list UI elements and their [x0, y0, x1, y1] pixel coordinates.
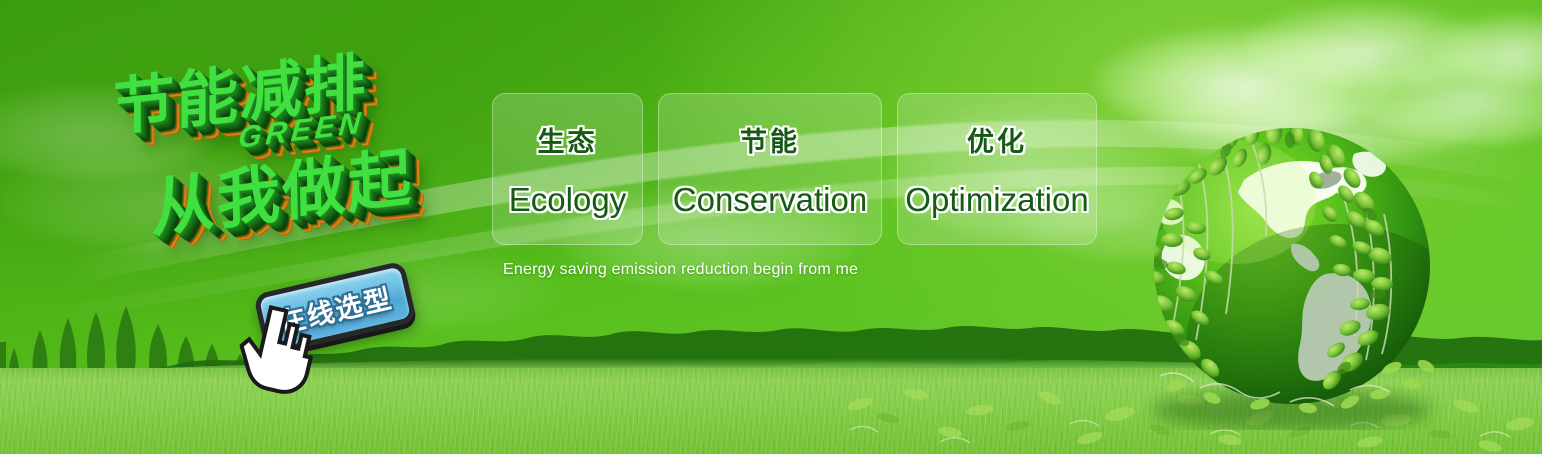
banner-subtitle: Energy saving emission reduction begin f… [503, 261, 858, 279]
leafy-earth-globe-icon [1140, 118, 1450, 430]
feature-card-title-en: Optimization [905, 181, 1088, 219]
feature-card-optimization[interactable]: 优化 Optimization [897, 93, 1097, 245]
feature-card-title-cn: 节能 [740, 120, 800, 159]
feature-card-conservation[interactable]: 节能 Conservation [658, 93, 882, 245]
feature-card-title-en: Conservation [673, 181, 867, 219]
eco-promo-banner: 节能减排 GREEN 从我做起 在线选型 生态 Ecology 节能 Conse… [0, 0, 1542, 454]
headline-3d: 节能减排 GREEN 从我做起 [98, 34, 490, 266]
feature-card-title-en: Ecology [509, 181, 626, 219]
feature-cards: 生态 Ecology 节能 Conservation 优化 Optimizati… [492, 93, 1097, 245]
feature-card-ecology[interactable]: 生态 Ecology [492, 93, 643, 245]
feature-card-title-cn: 优化 [967, 120, 1027, 159]
headline-line-2: 从我做起 [150, 126, 414, 251]
feature-card-title-cn: 生态 [538, 120, 598, 159]
